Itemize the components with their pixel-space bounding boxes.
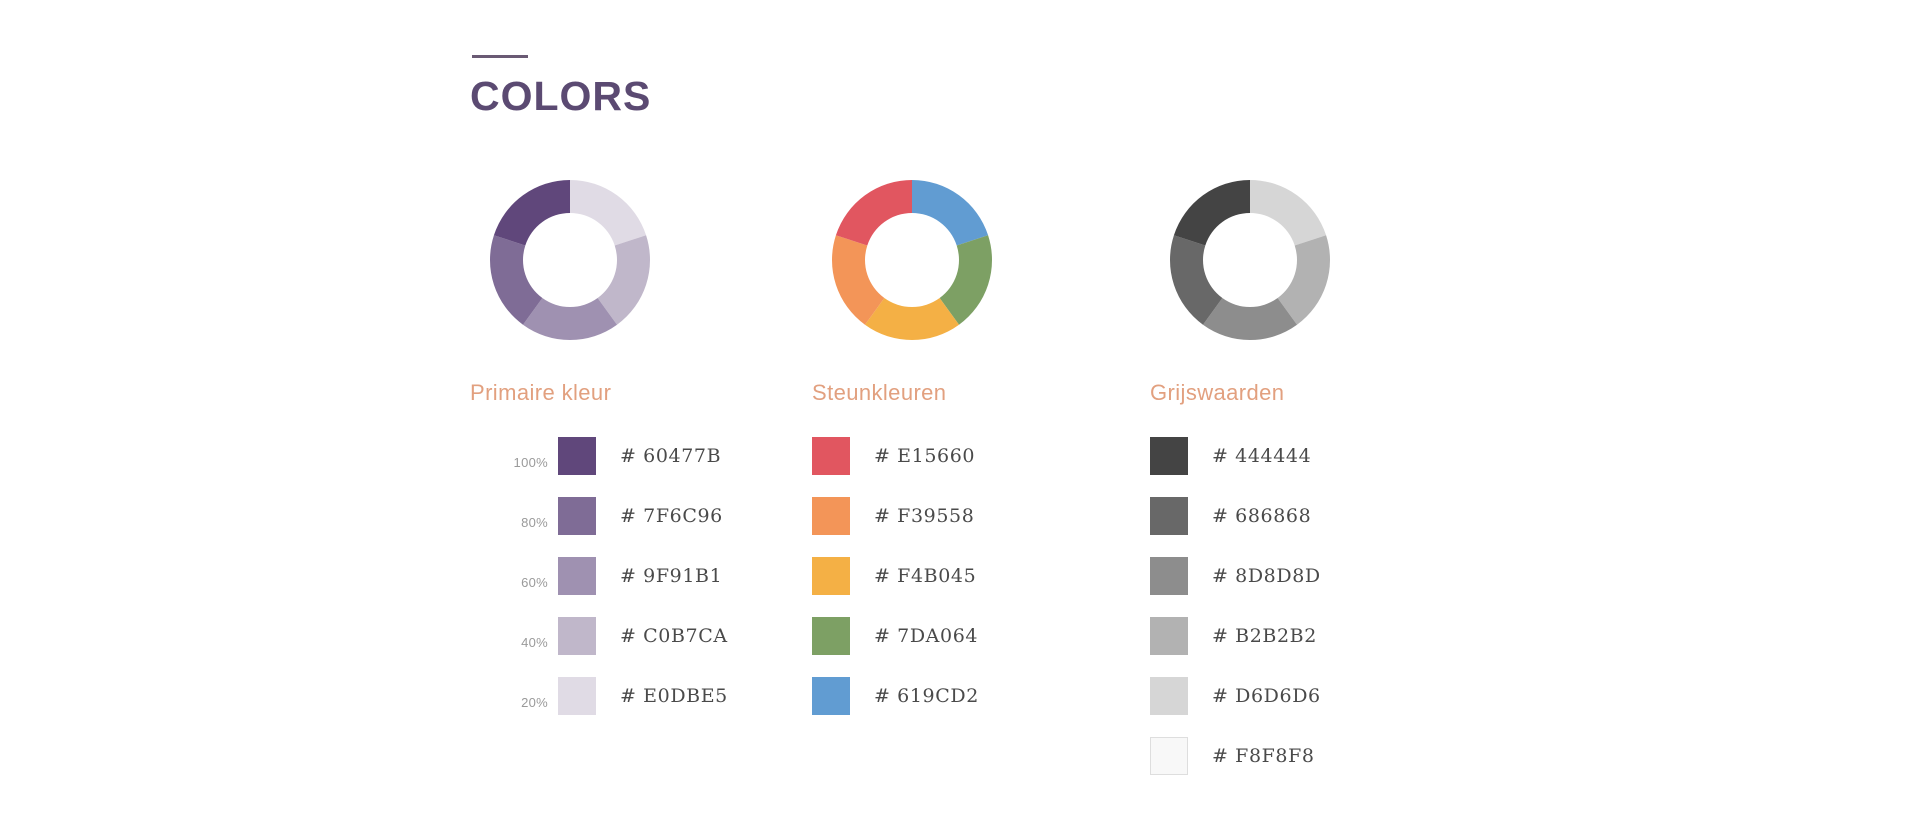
swatch-chip[interactable] xyxy=(558,497,596,535)
swatch-percentage: 80% xyxy=(482,515,548,530)
swatch-chip[interactable] xyxy=(558,617,596,655)
swatch-percentage: 100% xyxy=(482,455,548,470)
swatch-row[interactable]: # F39558 xyxy=(812,497,1152,557)
swatch-chip[interactable] xyxy=(1150,497,1188,535)
donut-segment xyxy=(912,180,988,245)
donut-segment xyxy=(1250,180,1326,245)
swatch-row[interactable]: # 619CD2 xyxy=(812,677,1152,737)
swatch-chip[interactable] xyxy=(558,677,596,715)
swatch-chip[interactable] xyxy=(1150,617,1188,655)
swatch-chip[interactable] xyxy=(812,617,850,655)
swatch-chip[interactable] xyxy=(812,557,850,595)
swatch-hex-label: # 686868 xyxy=(1212,505,1311,527)
swatch-hex-label: # 9F91B1 xyxy=(620,565,722,587)
donut-greyscale xyxy=(1168,178,1332,342)
swatch-row[interactable]: # 444444 xyxy=(1150,437,1490,497)
swatch-row[interactable]: # 8D8D8D xyxy=(1150,557,1490,617)
swatch-percentage: 20% xyxy=(482,695,548,710)
swatch-row[interactable]: # 686868 xyxy=(1150,497,1490,557)
donut-primary xyxy=(488,178,652,342)
swatch-hex-label: # 7F6C96 xyxy=(620,505,723,527)
swatch-row[interactable]: # E15660 xyxy=(812,437,1152,497)
swatch-chip[interactable] xyxy=(558,437,596,475)
donut-segment xyxy=(1174,180,1250,245)
section-label-support: Steunkleuren xyxy=(812,380,946,406)
swatch-row[interactable]: # 7DA064 xyxy=(812,617,1152,677)
swatch-hex-label: # F39558 xyxy=(874,505,974,527)
swatch-hex-label: # 619CD2 xyxy=(874,685,979,707)
swatch-hex-label: # D6D6D6 xyxy=(1212,685,1321,707)
swatch-row[interactable]: # F4B045 xyxy=(812,557,1152,617)
swatch-chip[interactable] xyxy=(812,437,850,475)
swatch-percentage: 60% xyxy=(482,575,548,590)
swatch-chip[interactable] xyxy=(1150,737,1188,775)
donut-chart xyxy=(488,178,652,342)
swatch-chip[interactable] xyxy=(812,677,850,715)
swatch-row[interactable]: # B2B2B2 xyxy=(1150,617,1490,677)
swatch-row[interactable]: # F8F8F8 xyxy=(1150,737,1490,797)
swatch-hex-label: # B2B2B2 xyxy=(1212,625,1317,647)
swatch-hex-label: # 8D8D8D xyxy=(1212,565,1321,587)
swatch-percentage: 40% xyxy=(482,635,548,650)
color-columns: Primaire kleur100%# 60477B80%# 7F6C9660%… xyxy=(0,0,1920,817)
donut-chart xyxy=(830,178,994,342)
swatch-chip[interactable] xyxy=(1150,557,1188,595)
swatch-hex-label: # F4B045 xyxy=(874,565,976,587)
section-label-greyscale: Grijswaarden xyxy=(1150,380,1284,406)
swatch-list-support: # E15660# F39558# F4B045# 7DA064# 619CD2 xyxy=(812,437,1152,737)
swatch-hex-label: # 60477B xyxy=(620,445,721,467)
donut-segment xyxy=(836,180,912,245)
swatch-row[interactable]: # D6D6D6 xyxy=(1150,677,1490,737)
swatch-chip[interactable] xyxy=(812,497,850,535)
donut-segment xyxy=(570,180,646,245)
donut-segment xyxy=(494,180,570,245)
section-label-primary: Primaire kleur xyxy=(470,380,611,406)
swatch-chip[interactable] xyxy=(558,557,596,595)
swatch-hex-label: # C0B7CA xyxy=(620,625,728,647)
donut-support xyxy=(830,178,994,342)
swatch-hex-label: # 444444 xyxy=(1212,445,1311,467)
swatch-hex-label: # E0DBE5 xyxy=(620,685,728,707)
swatch-hex-label: # F8F8F8 xyxy=(1212,745,1315,767)
swatch-hex-label: # E15660 xyxy=(874,445,975,467)
swatch-list-greyscale: # 444444# 686868# 8D8D8D# B2B2B2# D6D6D6… xyxy=(1150,437,1490,797)
swatch-chip[interactable] xyxy=(1150,437,1188,475)
swatch-hex-label: # 7DA064 xyxy=(874,625,978,647)
donut-chart xyxy=(1168,178,1332,342)
colors-page: COLORS Primaire kleur100%# 60477B80%# 7F… xyxy=(0,0,1920,817)
swatch-chip[interactable] xyxy=(1150,677,1188,715)
